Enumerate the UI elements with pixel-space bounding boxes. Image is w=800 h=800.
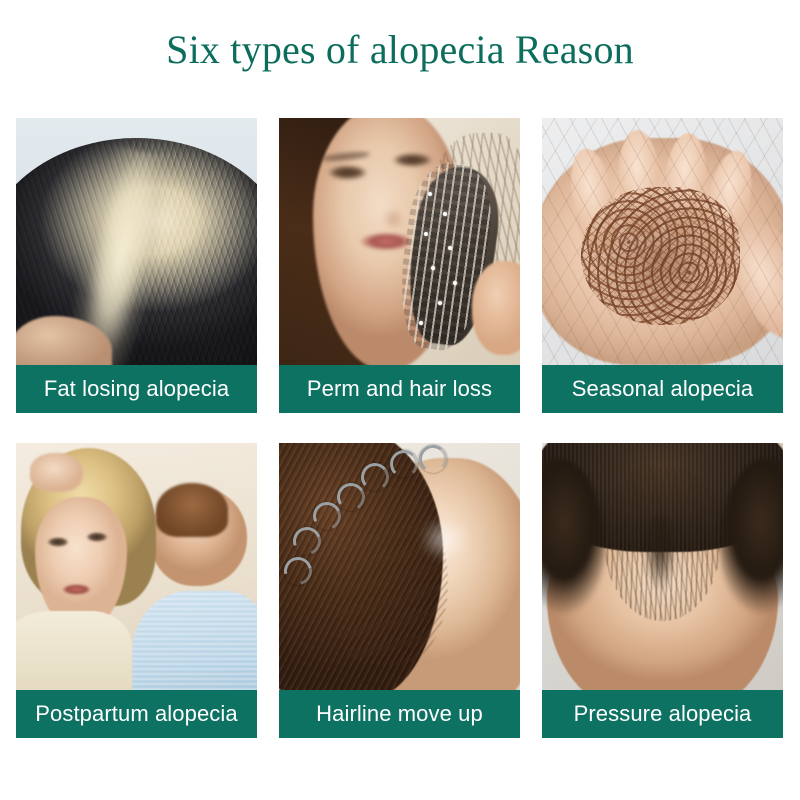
palm-holding-hair-clump-photo [542,118,783,365]
alopecia-card-hairline[interactable]: Hairline move up [279,443,520,738]
alopecia-card-postpartum[interactable]: Postpartum alopecia [16,443,257,738]
alopecia-card-seasonal[interactable]: Seasonal alopecia [542,118,783,413]
card-caption: Perm and hair loss [279,365,520,413]
scalp-center-part-thinning-photo [16,118,257,365]
card-caption: Hairline move up [279,690,520,738]
page-title: Six types of alopecia Reason [0,26,800,74]
alopecia-card-fat-losing[interactable]: Fat losing alopecia [16,118,257,413]
mother-holding-baby-photo [16,443,257,690]
receding-hairline-with-clips-photo [279,443,520,690]
alopecia-types-grid: Fat losing alopecia Perm and hair lo [16,118,785,738]
card-caption: Seasonal alopecia [542,365,783,413]
alopecia-card-perm[interactable]: Perm and hair loss [279,118,520,413]
card-caption: Pressure alopecia [542,690,783,738]
woman-with-hairbrush-photo [279,118,520,365]
alopecia-card-pressure[interactable]: Pressure alopecia [542,443,783,738]
male-thinning-crown-photo [542,443,783,690]
card-caption: Postpartum alopecia [16,690,257,738]
card-caption: Fat losing alopecia [16,365,257,413]
